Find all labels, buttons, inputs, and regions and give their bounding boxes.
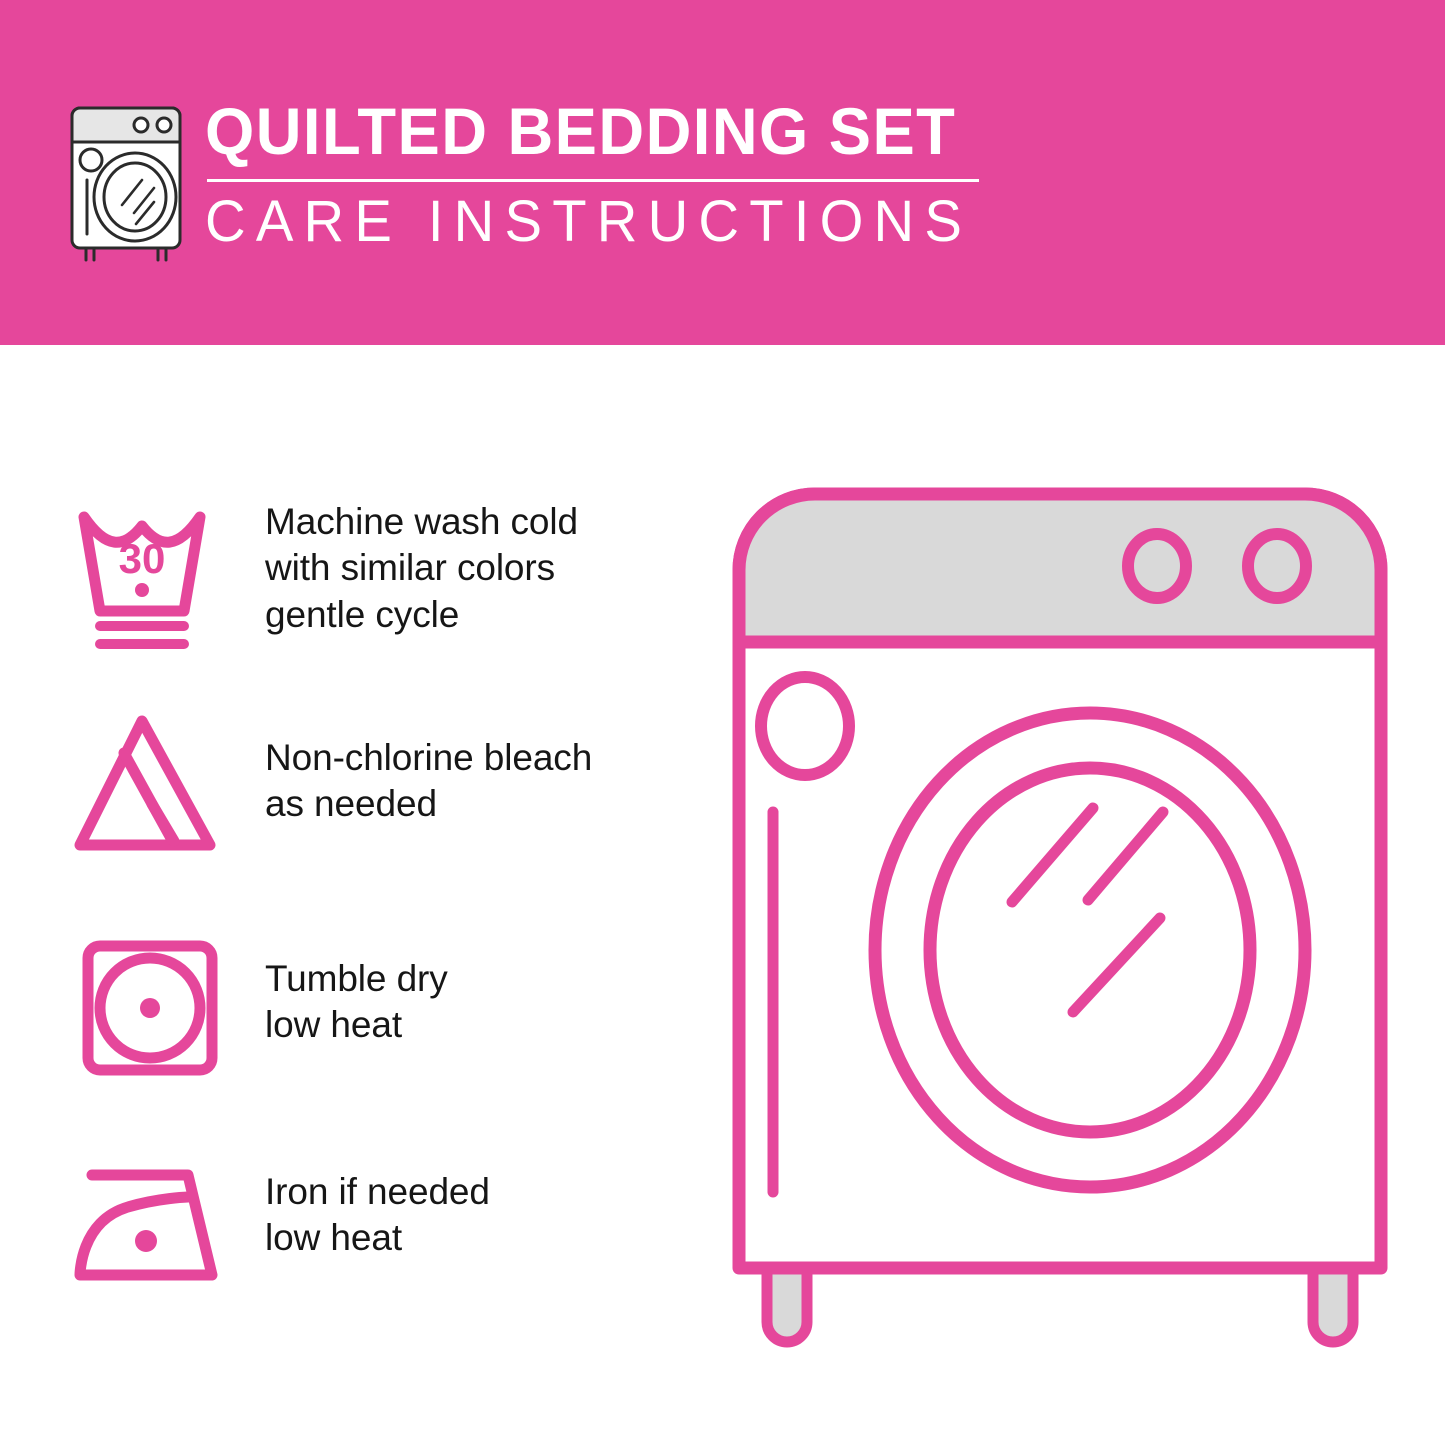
iron-icon — [62, 1145, 237, 1305]
machine-dispenser-icon — [761, 677, 849, 775]
care-row-bleach: Non-chlorine bleach as needed — [0, 703, 700, 863]
wash-tub-30-icon: 30 — [62, 495, 237, 655]
page-subtitle: CARE INSTRUCTIONS — [205, 192, 981, 251]
care-line-1: Iron if needed — [265, 1169, 490, 1215]
care-line-2: with similar colors — [265, 545, 578, 591]
care-line-3: gentle cycle — [265, 592, 578, 638]
washing-machine-logo-icon — [62, 100, 192, 265]
care-text-iron: Iron if needed low heat — [265, 1145, 490, 1262]
care-text-machine-wash: Machine wash cold with similar colors ge… — [265, 495, 578, 638]
care-line-2: as needed — [265, 781, 592, 827]
care-line-2: low heat — [265, 1215, 490, 1261]
machine-drum-inner — [930, 768, 1250, 1132]
header-banner: QUILTED BEDDING SET CARE INSTRUCTIONS — [0, 0, 1445, 345]
care-text-tumble-dry: Tumble dry low heat — [265, 928, 448, 1049]
care-line-2: low heat — [265, 1002, 448, 1048]
care-instruction-list: 30 Machine wash cold with similar colors… — [0, 345, 700, 1445]
care-row-iron: Iron if needed low heat — [0, 1145, 700, 1305]
care-line-1: Tumble dry — [265, 956, 448, 1002]
care-line-1: Machine wash cold — [265, 499, 578, 545]
care-row-machine-wash: 30 Machine wash cold with similar colors… — [0, 495, 700, 655]
bleach-triangle-icon — [62, 703, 237, 863]
header-text-block: QUILTED BEDDING SET CARE INSTRUCTIONS — [205, 98, 1005, 251]
machine-knob-right — [1248, 534, 1306, 598]
care-instructions-page: QUILTED BEDDING SET CARE INSTRUCTIONS 30 — [0, 0, 1445, 1445]
machine-knob-left — [1128, 534, 1186, 598]
page-title: QUILTED BEDDING SET — [205, 98, 973, 165]
header-divider — [207, 179, 979, 182]
care-text-bleach: Non-chlorine bleach as needed — [265, 703, 592, 828]
front-load-washing-machine-illustration — [715, 470, 1405, 1370]
care-row-tumble-dry: Tumble dry low heat — [0, 928, 700, 1088]
care-line-1: Non-chlorine bleach — [265, 735, 592, 781]
wash-temperature-value: 30 — [119, 535, 166, 582]
tumble-dry-icon — [62, 928, 237, 1088]
